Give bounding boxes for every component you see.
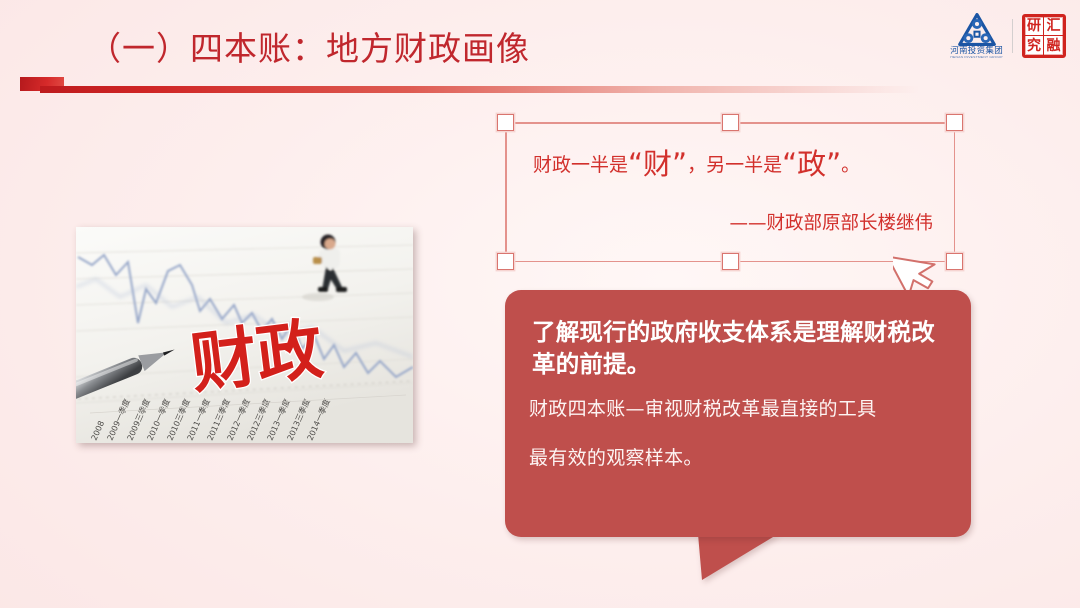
bubble-line-2: 最有效的观察样本。 [529,449,949,468]
quote-textbox[interactable]: 财政一半是“财”，另一半是“政”。 ——财政部原部长楼继伟 [505,122,955,262]
seal-char-2: 汇 [1044,17,1063,36]
bubble-tail [698,534,778,582]
selection-edge-right [954,122,956,262]
logo-group: 河南投资集团 HENAN INVESTMENT GROUP 研 汇 究 融 [950,11,1066,61]
quote-text: 财政一半是“财”，另一半是“政”。 [533,150,933,179]
quote-part-5: 。 [841,154,860,176]
seal-char-3: 究 [1025,36,1044,55]
resize-handle-bottom-center[interactable] [722,253,739,270]
bubble-body: 财政四本账—审视财税改革最直接的工具 最有效的观察样本。 [529,400,949,498]
resize-handle-top-right[interactable] [946,114,963,131]
company-logo: 河南投资集团 HENAN INVESTMENT GROUP [950,13,1003,60]
callout-bubble: 了解现行的政府收支体系是理解财税改革的前提。 财政四本账—审视财税改革最直接的工… [505,290,971,537]
svg-text:财政: 财政 [187,310,327,403]
resize-handle-bottom-right[interactable] [946,253,963,270]
quote-part-3: ，另一半是 [687,154,782,176]
company-name-en: HENAN INVESTMENT GROUP [950,56,1002,59]
seal-char-1: 研 [1025,17,1044,36]
quote-part-2-emphasis: “财” [628,147,687,181]
logo-separator [1012,19,1013,53]
company-name-cn: 河南投资集团 [950,47,1003,56]
slide-canvas: （一）四本账：地方财政画像 河南投资集团 HENAN INVESTMENT [0,0,1080,608]
triangle-emblem-icon [958,13,996,46]
resize-handle-top-center[interactable] [722,114,739,131]
resize-handle-top-left[interactable] [497,114,514,131]
resize-handle-bottom-left[interactable] [497,253,514,270]
bubble-line-1: 财政四本账—审视财税改革最直接的工具 [529,400,949,419]
title-divider-line [40,86,920,93]
seal-char-4: 融 [1044,36,1063,55]
selection-edge-left [505,122,507,262]
quote-part-4-emphasis: “政” [782,147,841,181]
research-seal-icon: 研 汇 究 融 [1022,14,1066,58]
quote-attribution: ——财政部原部长楼继伟 [729,215,933,234]
quote-part-1: 财政一半是 [533,154,628,176]
bubble-headline: 了解现行的政府收支体系是理解财税改革的前提。 [532,316,944,381]
page-title: （一）四本账：地方财政画像 [88,30,530,68]
arrow-pointer-icon [893,243,941,293]
finance-photo: 财政 2008 2009一季度 2009三季度 2010一季度 2010三季度 … [76,227,413,443]
